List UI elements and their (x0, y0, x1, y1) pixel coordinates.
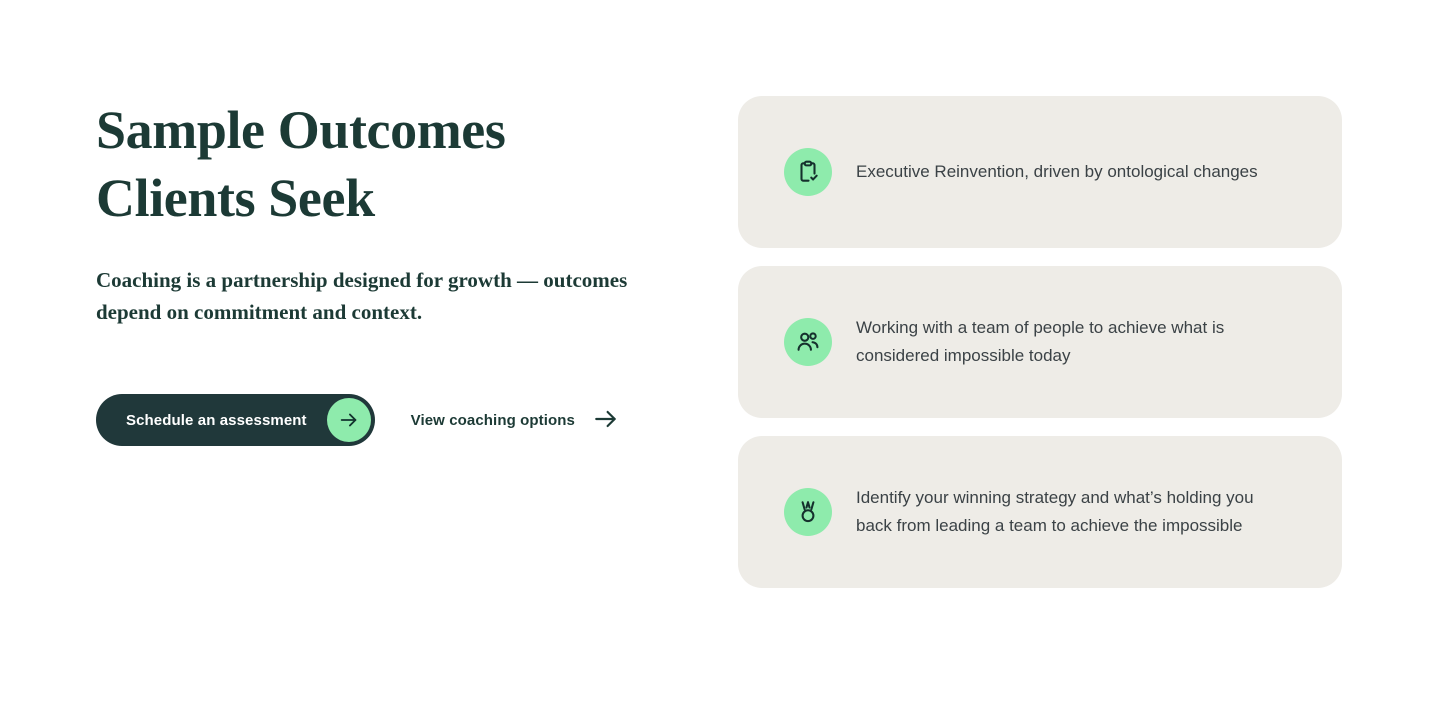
arrow-right-icon (327, 398, 371, 442)
outcome-card[interactable]: Identify your winning strategy and what’… (738, 436, 1342, 588)
view-coaching-options-label: View coaching options (411, 412, 575, 429)
outcome-card-text: Executive Reinvention, driven by ontolog… (856, 158, 1258, 186)
outcome-card[interactable]: Executive Reinvention, driven by ontolog… (738, 96, 1342, 248)
outcome-card[interactable]: Working with a team of people to achieve… (738, 266, 1342, 418)
outcome-card-text: Working with a team of people to achieve… (856, 314, 1281, 370)
hero-text-column: Sample Outcomes Clients Seek Coaching is… (96, 96, 676, 328)
arrow-right-icon (593, 406, 619, 435)
outcome-cards-list: Executive Reinvention, driven by ontolog… (738, 96, 1342, 588)
page-title: Sample Outcomes Clients Seek (96, 96, 566, 232)
schedule-assessment-label: Schedule an assessment (126, 412, 307, 429)
view-coaching-options-button[interactable]: View coaching options (409, 400, 621, 441)
page-root: Sample Outcomes Clients Seek Coaching is… (0, 0, 1440, 708)
hero-subheadline: Coaching is a partnership designed for g… (96, 264, 641, 328)
medal-icon (784, 488, 832, 536)
clipboard-check-icon (784, 148, 832, 196)
outcome-card-text: Identify your winning strategy and what’… (856, 484, 1281, 540)
cta-row: Schedule an assessment View coaching opt… (96, 394, 621, 446)
users-icon (784, 318, 832, 366)
schedule-assessment-button[interactable]: Schedule an assessment (96, 394, 375, 446)
